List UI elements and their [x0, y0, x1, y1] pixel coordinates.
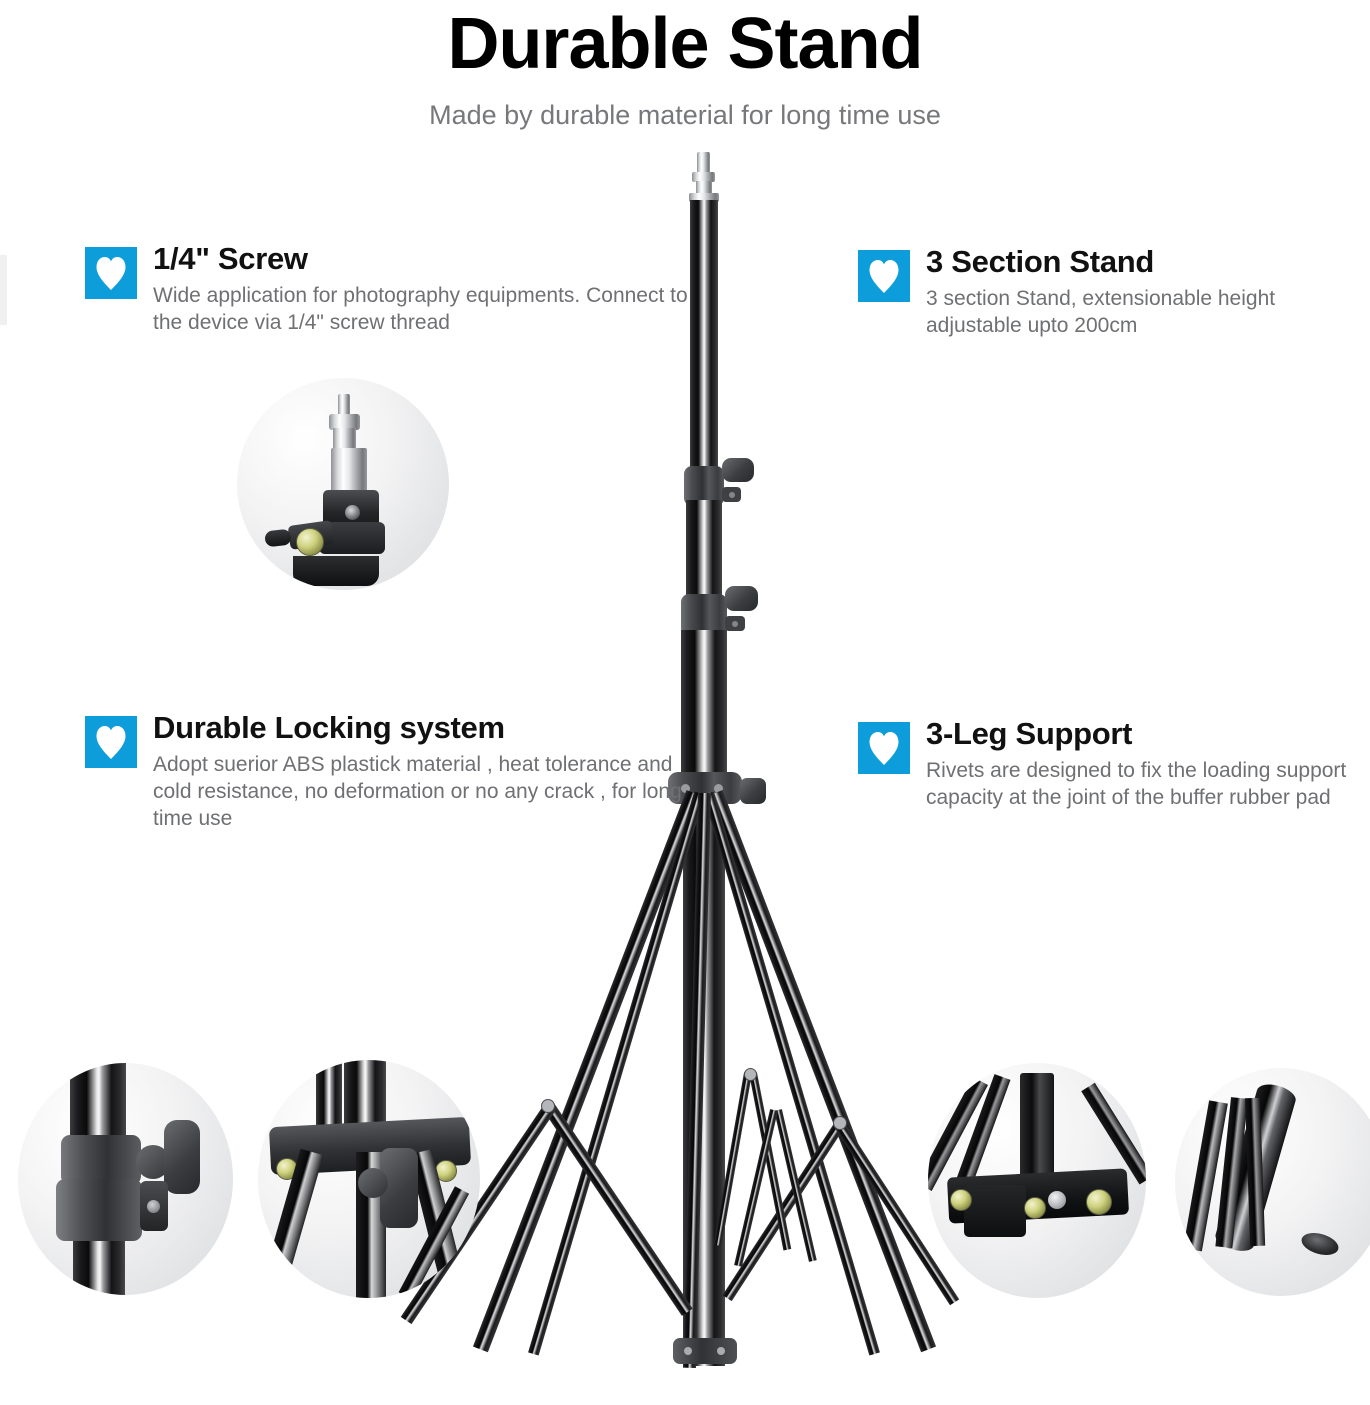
- locking-collar-closeup: [18, 1063, 233, 1295]
- feature-title: 1/4" Screw: [153, 239, 713, 279]
- heart-check-icon: [858, 722, 910, 774]
- adapter-foot: [293, 556, 379, 586]
- feature-text-block: 3-Leg Support Rivets are designed to fix…: [926, 714, 1356, 811]
- leg-hub-knob: [740, 778, 766, 804]
- heart-check-icon: [85, 247, 137, 299]
- hub-knob-pivot: [358, 1168, 388, 1198]
- collar-tube-bottom: [73, 1233, 125, 1295]
- closeup-content: [1175, 1068, 1370, 1296]
- collar-body-lower: [56, 1179, 142, 1241]
- feature-description: Rivets are designed to fix the loading s…: [926, 757, 1356, 811]
- rivet-bolt-4: [1086, 1189, 1112, 1215]
- tripod-leg-left: [473, 790, 702, 1352]
- feature-text-block: 1/4" Screw Wide application for photogra…: [153, 239, 713, 336]
- rivet-foot-block: [964, 1185, 1026, 1237]
- adapter-lever: [264, 529, 292, 548]
- feature-title: 3-Leg Support: [926, 714, 1356, 754]
- screw-shaft-upper: [333, 428, 356, 450]
- screw-adapter-hole: [345, 505, 360, 520]
- closeup-content: [258, 1060, 480, 1298]
- hub-side-tube-left: [316, 1060, 342, 1132]
- rivet-center-tube: [1020, 1073, 1054, 1185]
- rivet-bolt-3: [1048, 1191, 1066, 1209]
- feature-description: Wide application for photography equipme…: [153, 282, 713, 336]
- locking-collar-2-pin: [732, 621, 738, 627]
- brace-rivet-right: [833, 1116, 847, 1130]
- feature-description: Adopt suerior ABS plastick material , he…: [153, 751, 713, 832]
- locking-knob-2: [725, 586, 758, 611]
- heart-check-icon: [858, 250, 910, 302]
- screw-shaft-lower: [331, 448, 367, 494]
- tripod-leg-left-inner: [528, 791, 705, 1355]
- screw-thread: [338, 394, 350, 416]
- closeup-content: [18, 1063, 233, 1295]
- adapter-screw-head: [296, 528, 324, 556]
- collar-knob: [164, 1120, 200, 1194]
- locking-knob-1: [722, 458, 754, 482]
- heart-check-icon: [85, 716, 137, 768]
- tube-end-cap: [1299, 1229, 1341, 1259]
- rivet-bolt-2: [1024, 1197, 1046, 1219]
- collar-ear-pin: [147, 1200, 160, 1213]
- closeup-content: [928, 1063, 1146, 1298]
- stand-section-2: [686, 500, 722, 604]
- leg-tube-closeup: [1175, 1068, 1370, 1296]
- quarter-inch-screw-closeup: [237, 378, 449, 590]
- feature-title: 3 Section Stand: [926, 242, 1346, 282]
- leg-hub-joint-closeup: [258, 1060, 480, 1298]
- closeup-content: [237, 378, 449, 590]
- rivet-foot-joint-closeup: [928, 1063, 1146, 1298]
- locking-collar-1-pin: [729, 492, 735, 498]
- brace-collar-bottom: [673, 1338, 737, 1364]
- feature-text-block: 3 Section Stand 3 section Stand, extensi…: [926, 242, 1346, 339]
- brace-rivet-center-top: [744, 1068, 757, 1081]
- brace-left-upper: [542, 1101, 693, 1316]
- feature-text-block: Durable Locking system Adopt suerior ABS…: [153, 708, 713, 832]
- tripod-leg-right-inner: [703, 791, 880, 1355]
- rivet-bolt-1: [950, 1189, 972, 1211]
- brace-collar-pin-right: [717, 1347, 725, 1355]
- collar-body-upper: [61, 1135, 141, 1185]
- stand-screw-tip: [697, 152, 710, 174]
- brace-rivet-left: [541, 1099, 555, 1113]
- feature-title: Durable Locking system: [153, 708, 713, 748]
- feature-description: 3 section Stand, extensionable height ad…: [926, 285, 1346, 339]
- infographic-canvas: Durable Stand Made by durable material f…: [0, 0, 1370, 1405]
- brace-collar-pin-left: [684, 1347, 692, 1355]
- collar-tube-top: [70, 1063, 126, 1141]
